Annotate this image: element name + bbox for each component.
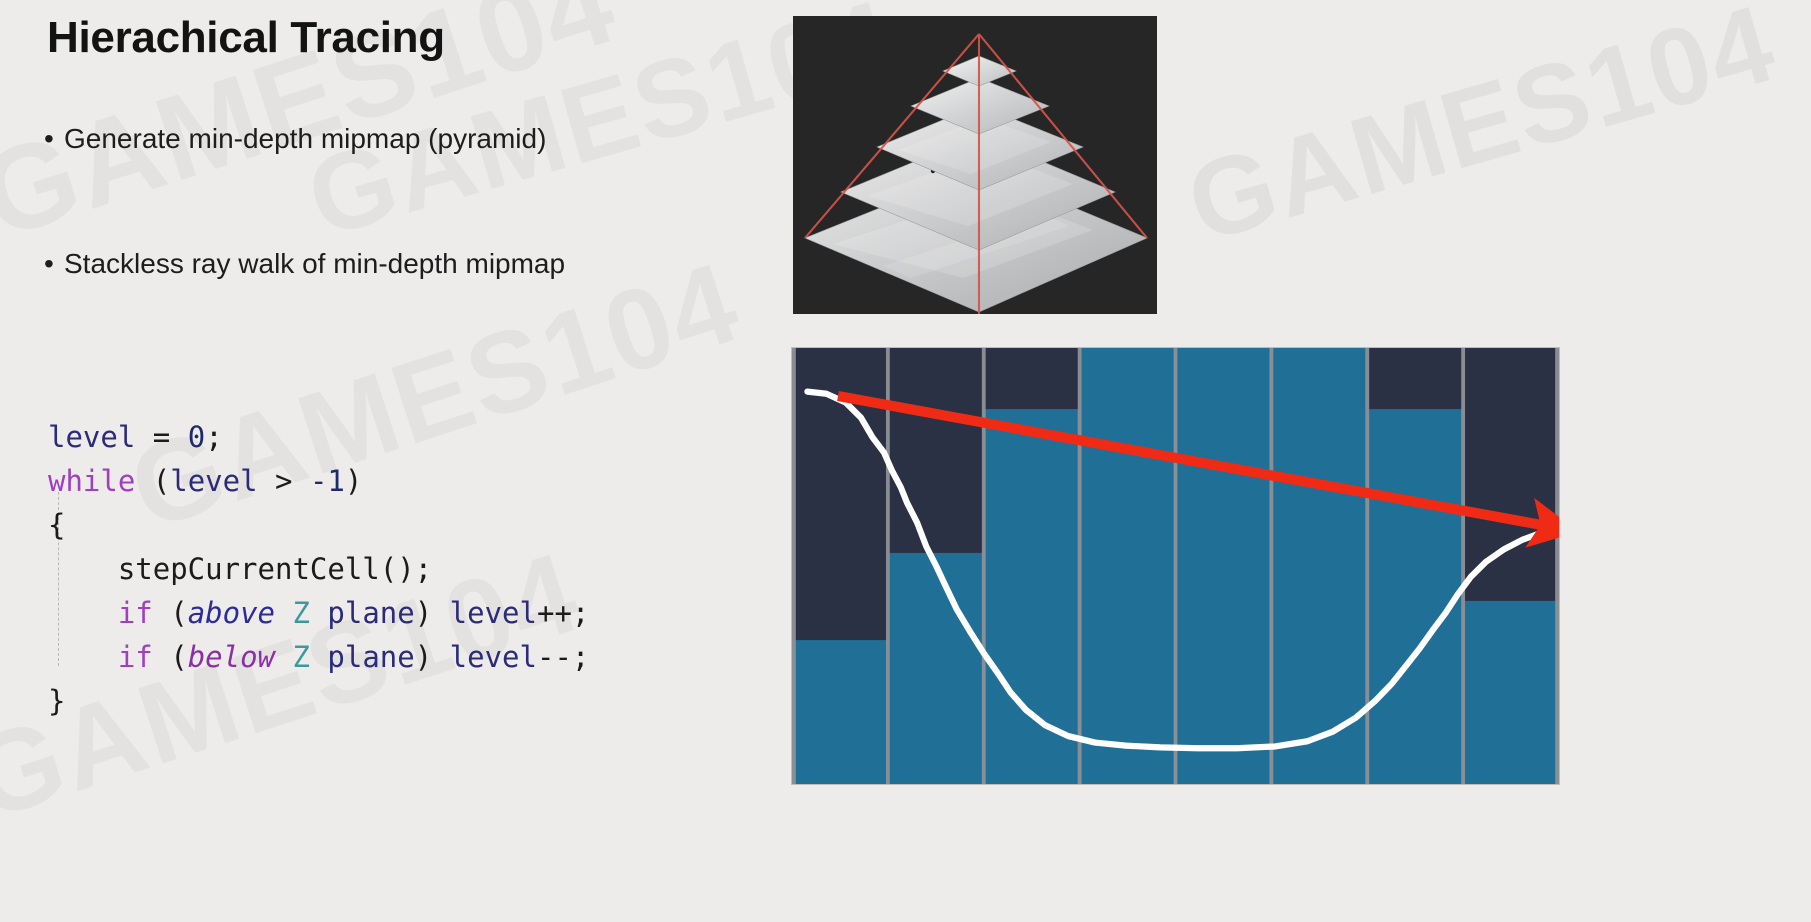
bullet-text: Generate min-depth mipmap (pyramid) <box>64 122 546 156</box>
code-token: --; <box>537 640 589 674</box>
code-token: level <box>450 596 537 630</box>
code-token: > <box>275 464 292 498</box>
code-token: } <box>48 684 65 718</box>
bullet-text: Stackless ray walk of min-depth mipmap <box>64 247 565 281</box>
bullet-marker-icon: • <box>44 247 64 281</box>
bullet-item: • Generate min-depth mipmap (pyramid) <box>44 122 546 156</box>
code-token: if <box>118 596 153 630</box>
code-token <box>310 640 327 674</box>
code-token <box>153 596 170 630</box>
code-token <box>275 596 292 630</box>
heightfield-figure <box>791 347 1560 785</box>
code-token: 0 <box>188 420 205 454</box>
cell-empty <box>1367 348 1463 409</box>
code-token: ++; <box>537 596 589 630</box>
code-line: } <box>48 679 589 723</box>
page-title: Hierachical Tracing <box>47 13 445 63</box>
code-token: ( <box>170 640 187 674</box>
code-token <box>293 464 310 498</box>
bullet-item: • Stackless ray walk of min-depth mipmap <box>44 247 565 281</box>
code-token: ( <box>153 464 170 498</box>
left-content-column: Hierachical Tracing • Generate min-depth… <box>0 0 790 922</box>
code-token: { <box>48 508 65 542</box>
bullet-marker-icon: • <box>44 122 64 156</box>
code-token: level <box>170 464 257 498</box>
code-token: stepCurrentCell <box>118 552 380 586</box>
code-token: plane <box>327 596 414 630</box>
cell-min-depth-box <box>1176 348 1272 784</box>
code-token: level <box>48 420 135 454</box>
code-line: level = 0; <box>48 415 589 459</box>
code-token: plane <box>327 640 414 674</box>
code-token <box>170 420 187 454</box>
code-token: if <box>118 640 153 674</box>
pyramid-svg <box>793 16 1157 314</box>
code-token: while <box>48 464 135 498</box>
code-token <box>48 640 118 674</box>
code-token: ( <box>170 596 187 630</box>
cell-empty <box>1463 348 1559 601</box>
code-token: ) <box>415 640 432 674</box>
code-token: Z <box>292 596 309 630</box>
code-token: ) <box>415 596 432 630</box>
cell-min-depth-box <box>888 553 984 784</box>
code-line: { <box>48 503 589 547</box>
cell-min-depth-box <box>792 640 888 784</box>
code-line: if (above Z plane) level++; <box>48 591 589 635</box>
code-token <box>135 420 152 454</box>
code-token: ) <box>345 464 362 498</box>
code-token: above <box>188 596 275 630</box>
code-token <box>310 596 327 630</box>
code-token <box>48 552 118 586</box>
code-token <box>258 464 275 498</box>
code-token: below <box>188 640 275 674</box>
code-token <box>275 640 292 674</box>
code-line: if (below Z plane) level--; <box>48 635 589 679</box>
code-line: stepCurrentCell(); <box>48 547 589 591</box>
code-block: level = 0;while (level > -1){ stepCurren… <box>48 415 589 723</box>
code-token <box>432 596 449 630</box>
code-token: level <box>450 640 537 674</box>
cell-empty <box>888 348 984 553</box>
cell-min-depth-box <box>984 409 1080 784</box>
code-token <box>135 464 152 498</box>
cell-min-depth-box <box>1367 409 1463 784</box>
code-token: (); <box>380 552 432 586</box>
code-token: Z <box>292 640 309 674</box>
code-token: = <box>153 420 170 454</box>
slide-root: GAMES104 GAMES104 GAMES104 GAMES104 GAME… <box>0 0 1811 922</box>
watermark-text: GAMES104 <box>1174 0 1789 268</box>
heightfield-svg <box>792 348 1559 784</box>
pyramid-figure <box>793 16 1157 314</box>
cell-min-depth-box <box>1463 601 1559 784</box>
cell-min-depth-box <box>1080 348 1176 784</box>
code-line: while (level > -1) <box>48 459 589 503</box>
code-token <box>153 640 170 674</box>
code-token: -1 <box>310 464 345 498</box>
code-token <box>48 596 118 630</box>
cell-empty <box>984 348 1080 409</box>
code-token: ; <box>205 420 222 454</box>
code-token <box>432 640 449 674</box>
